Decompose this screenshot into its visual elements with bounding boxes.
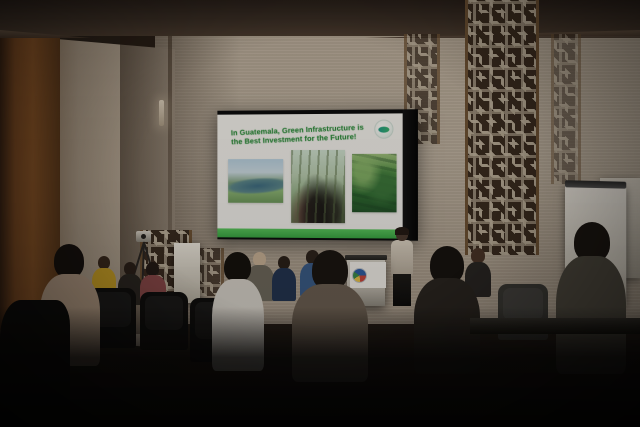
attendee-foreground-corner <box>0 300 70 427</box>
ceiling <box>0 0 640 36</box>
slide-photo-people-forest <box>291 150 345 223</box>
fretwork-panel-right <box>465 0 539 255</box>
attendee-head <box>54 244 84 278</box>
slide-photo-landscape <box>228 159 283 203</box>
presenter-legs <box>393 274 411 306</box>
attendee-head <box>146 262 159 276</box>
projection-screen: In Guatemala, Green Infrastructure is th… <box>217 109 417 241</box>
slide-title: In Guatemala, Green Infrastructure is th… <box>231 122 386 147</box>
slide-surface: In Guatemala, Green Infrastructure is th… <box>217 113 402 238</box>
presenter-body <box>391 240 413 276</box>
conference-room-photo: In Guatemala, Green Infrastructure is th… <box>0 0 640 427</box>
camera-icon <box>136 231 151 242</box>
table-surface <box>470 318 640 334</box>
attendee-foreground-white-shirt <box>212 252 264 370</box>
wall-light-sconce-icon <box>159 100 164 126</box>
fretwork-panel-far-right <box>551 34 581 184</box>
attendee-shoulders <box>212 279 264 371</box>
attendee-shoulders <box>0 300 70 427</box>
slide-accent-bar <box>217 228 402 238</box>
banquet-chair <box>140 292 188 350</box>
presenter <box>390 228 414 306</box>
slide-photo-forest <box>352 154 396 213</box>
attendee-shoulders <box>292 284 368 382</box>
attendee-foreground-right <box>414 246 480 372</box>
attendee-foreground-center <box>292 250 368 380</box>
attendee-foreground-far-right <box>556 222 626 372</box>
attendee-head <box>224 252 251 282</box>
flipchart-clip <box>565 180 626 188</box>
attendee-shoulders <box>556 256 626 374</box>
screen-side-edge <box>403 109 418 241</box>
presenter-hair <box>395 227 409 235</box>
